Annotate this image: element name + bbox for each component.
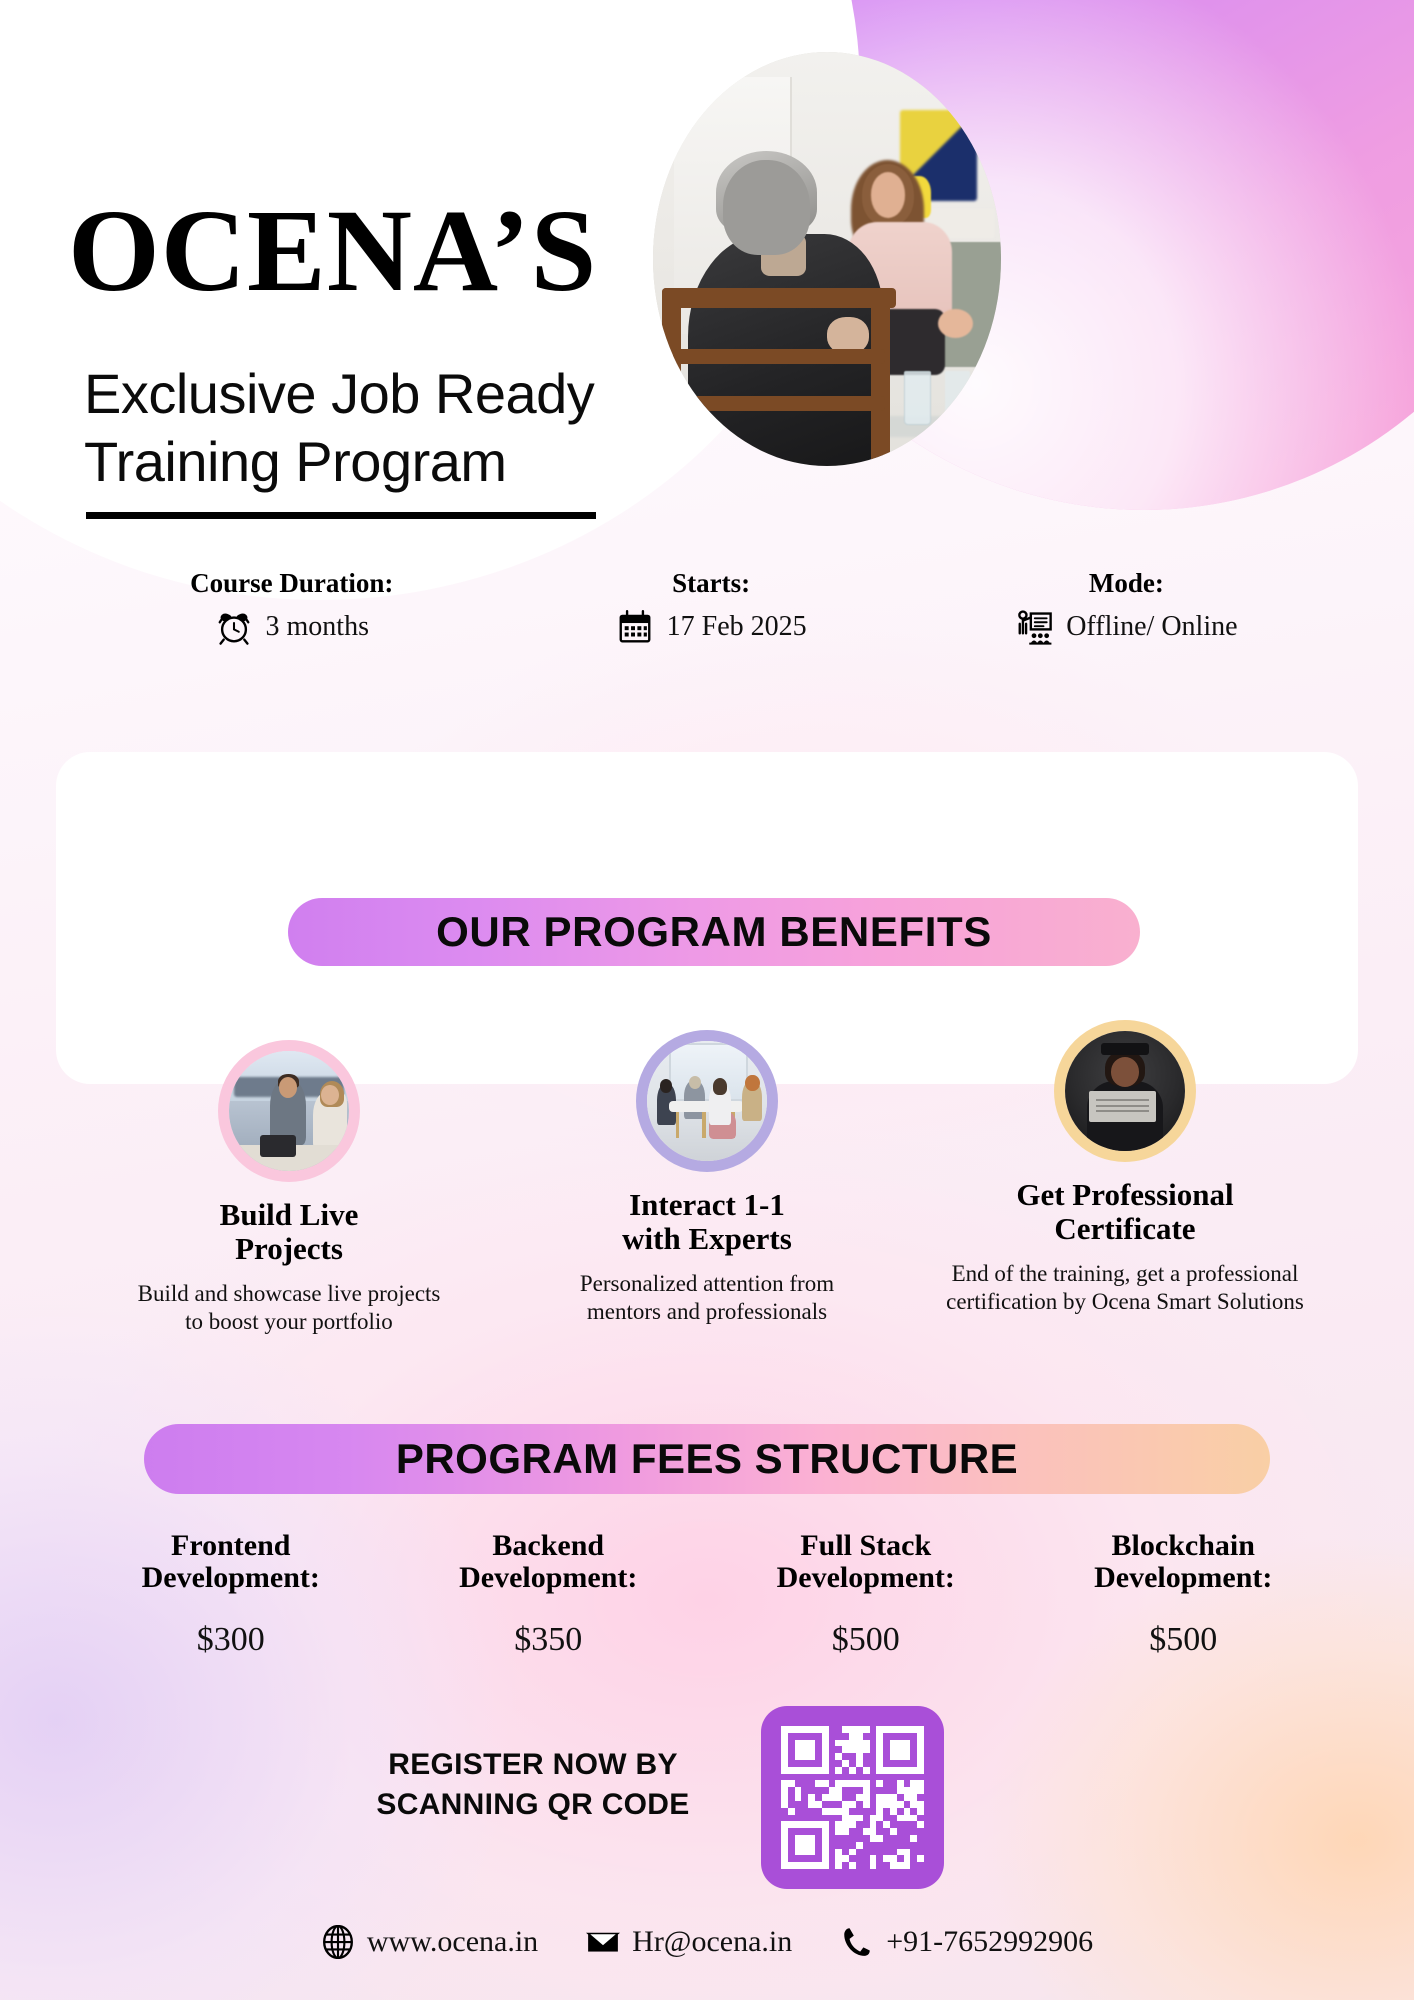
globe-icon: [321, 1925, 355, 1959]
fee-name-line-2: Development:: [142, 1562, 320, 1594]
brand-title: OCENA’S: [68, 192, 597, 310]
register-line-2: SCANNING QR CODE: [348, 1785, 718, 1825]
fee-item-backend: Backend Development: $350: [390, 1530, 708, 1670]
benefit-description: Build and showcase live projects to boos…: [138, 1280, 441, 1335]
fee-name-line-2: Development:: [459, 1562, 637, 1594]
fee-name-line-2: Development:: [1094, 1562, 1272, 1594]
info-label-duration: Course Duration:: [190, 568, 393, 599]
fee-price: $500: [1149, 1621, 1217, 1659]
hero-mentoring-photo: [653, 52, 1001, 466]
fees-grid: Frontend Development: $300 Backend Devel…: [72, 1530, 1342, 1670]
alarm-clock-icon: [215, 608, 253, 646]
qr-code[interactable]: [761, 1706, 944, 1889]
benefit-desc-line-2: mentors and professionals: [580, 1298, 834, 1326]
benefit-desc-line-2: to boost your portfolio: [138, 1308, 441, 1336]
footer-contact-bar: www.ocena.in Hr@ocena.in +91-7652992906: [0, 1925, 1414, 1959]
benefits-grid: Build Live Projects Build and showcase l…: [80, 1020, 1334, 1350]
register-line-1: REGISTER NOW BY: [348, 1745, 718, 1785]
benefit-desc-line-1: End of the training, get a professional: [946, 1260, 1304, 1288]
fee-name: Backend Development:: [459, 1530, 637, 1595]
fee-name: Blockchain Development:: [1094, 1530, 1272, 1595]
info-item-start-date: Starts: 17 Feb 2025: [504, 568, 919, 678]
fee-item-blockchain: Blockchain Development: $500: [1025, 1530, 1343, 1670]
title-underline-rule: [86, 512, 596, 519]
fee-name-line-2: Development:: [777, 1562, 955, 1594]
fee-price: $500: [832, 1621, 900, 1659]
training-presentation-icon: [1015, 608, 1053, 646]
benefit-desc-line-1: Build and showcase live projects: [138, 1280, 441, 1308]
qr-code-matrix: [781, 1726, 924, 1869]
info-value-mode: Offline/ Online: [1066, 611, 1237, 643]
footer-email[interactable]: Hr@ocena.in: [586, 1925, 792, 1959]
benefits-banner-label: OUR PROGRAM BENEFITS: [436, 908, 992, 956]
info-label-mode: Mode:: [1089, 568, 1164, 599]
benefit-title-line-1: Build Live: [220, 1198, 359, 1232]
envelope-icon: [586, 1925, 620, 1959]
fees-banner-label: PROGRAM FEES STRUCTURE: [396, 1435, 1018, 1483]
benefit-title-line-2: with Experts: [622, 1222, 792, 1256]
brand-subtitle: Exclusive Job Ready Training Program: [84, 360, 594, 497]
calendar-icon: [616, 608, 654, 646]
info-value-duration: 3 months: [266, 611, 369, 643]
fee-name-line-1: Frontend: [142, 1530, 320, 1562]
classroom-students-photo: [218, 1040, 360, 1182]
benefit-item-professional-certificate: Get Professional Certificate End of the …: [916, 1020, 1334, 1350]
graduate-certificate-photo: [1054, 1020, 1196, 1162]
benefit-description: End of the training, get a professional …: [946, 1260, 1304, 1315]
benefit-title: Interact 1-1 with Experts: [622, 1188, 792, 1256]
fee-name-line-1: Blockchain: [1094, 1530, 1272, 1562]
benefit-item-interact-with-experts: Interact 1-1 with Experts Personalized a…: [498, 1030, 916, 1350]
benefit-desc-line-2: certification by Ocena Smart Solutions: [946, 1288, 1304, 1316]
subtitle-line-1: Exclusive Job Ready: [84, 360, 594, 428]
fee-item-frontend: Frontend Development: $300: [72, 1530, 390, 1670]
benefit-desc-line-1: Personalized attention from: [580, 1270, 834, 1298]
footer-website-text: www.ocena.in: [367, 1925, 538, 1959]
phone-icon: [840, 1925, 874, 1959]
fee-price: $350: [514, 1621, 582, 1659]
fee-price: $300: [197, 1621, 265, 1659]
info-value-start-date: 17 Feb 2025: [667, 611, 807, 643]
fee-item-fullstack: Full Stack Development: $500: [707, 1530, 1025, 1670]
footer-website[interactable]: www.ocena.in: [321, 1925, 538, 1959]
fees-banner: PROGRAM FEES STRUCTURE: [144, 1424, 1270, 1494]
subtitle-line-2: Training Program: [84, 428, 594, 496]
footer-phone[interactable]: +91-7652992906: [840, 1925, 1093, 1959]
benefits-banner: OUR PROGRAM BENEFITS: [288, 898, 1140, 966]
course-info-row: Course Duration: 3 months Starts:: [80, 568, 1334, 678]
benefit-title: Get Professional Certificate: [1016, 1178, 1233, 1246]
benefit-title: Build Live Projects: [220, 1198, 359, 1266]
fee-name-line-1: Backend: [459, 1530, 637, 1562]
register-cta-text: REGISTER NOW BY SCANNING QR CODE: [348, 1745, 718, 1824]
benefit-item-build-live-projects: Build Live Projects Build and showcase l…: [80, 1040, 498, 1350]
benefit-description: Personalized attention from mentors and …: [580, 1270, 834, 1325]
footer-phone-text: +91-7652992906: [886, 1925, 1093, 1959]
fee-name-line-1: Full Stack: [777, 1530, 955, 1562]
fee-name: Frontend Development:: [142, 1530, 320, 1595]
benefit-title-line-2: Projects: [220, 1232, 359, 1266]
info-item-mode: Mode: Offline/ Online: [919, 568, 1334, 678]
benefit-title-line-2: Certificate: [1016, 1212, 1233, 1246]
footer-email-text: Hr@ocena.in: [632, 1925, 792, 1959]
poster-root: OCENA’S Exclusive Job Ready Training Pro…: [0, 0, 1414, 2000]
benefit-title-line-1: Interact 1-1: [622, 1188, 792, 1222]
fee-name: Full Stack Development:: [777, 1530, 955, 1595]
benefit-title-line-1: Get Professional: [1016, 1178, 1233, 1212]
info-item-duration: Course Duration: 3 months: [80, 568, 504, 678]
info-label-start-date: Starts:: [672, 568, 750, 599]
meeting-table-photo: [636, 1030, 778, 1172]
